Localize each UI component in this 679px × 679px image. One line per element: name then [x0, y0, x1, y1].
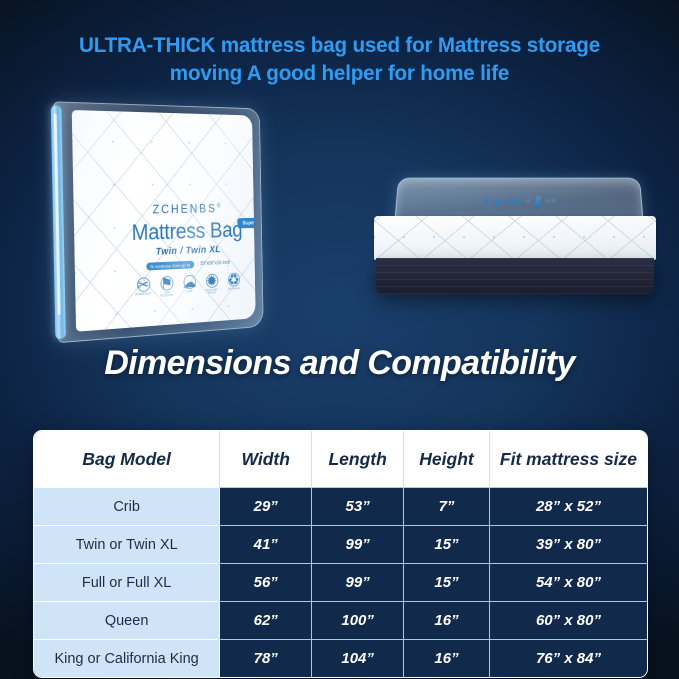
column-header-height: Height: [404, 431, 490, 488]
spec-table: Bag Model Width Length Height Fit mattre…: [34, 431, 647, 677]
cell-length: 53”: [312, 488, 404, 526]
headline-line-1-rest: mattress bag used for Mattress storage: [215, 33, 600, 57]
table-row: Full or Full XL 56” 99” 15” 54” x 80”: [34, 564, 647, 602]
bag-print-mark: 说明: [545, 200, 556, 205]
headline: ULTRA-THICK mattress bag used for Mattre…: [0, 32, 679, 87]
column-header-width: Width: [220, 431, 312, 488]
table-header-row: Bag Model Width Length Height Fit mattre…: [34, 431, 647, 488]
column-header-bag-model: Bag Model: [34, 431, 220, 488]
registered-mark: ®: [217, 204, 223, 210]
table-body: Crib 29” 53” 7” 28” x 52” Twin or Twin X…: [34, 488, 647, 678]
cell-length: 104”: [312, 640, 404, 678]
table-row: King or California King 78” 104” 16” 76”…: [34, 640, 647, 678]
column-header-length: Length: [312, 431, 404, 488]
feature-caption: WATERPROOF: [134, 293, 153, 297]
cell-height: 7”: [404, 488, 490, 526]
cell-bag-model: Twin or Twin XL: [34, 526, 220, 564]
feature-caption: MOISTURE PROOF: [203, 289, 221, 296]
mattress-front-face: ZCHENBS® Mattress Bag Twin / Twin XL fit…: [72, 110, 256, 332]
table-row: Crib 29” 53” 7” 28” x 52”: [34, 488, 647, 526]
section-title: Dimensions and Compatibility: [0, 344, 679, 383]
brand-text: ZCHENBS: [152, 202, 217, 216]
cell-length: 100”: [312, 602, 404, 640]
cell-width: 41”: [220, 526, 312, 564]
brand-name: ZCHENBS®: [105, 201, 256, 217]
cell-height: 15”: [404, 564, 490, 602]
mattress-base: [376, 258, 654, 294]
feature-item: ✹ MOISTURE PROOF: [203, 274, 221, 296]
table-row: Twin or Twin XL 41” 99” 15” 39” x 80”: [34, 526, 647, 564]
cell-bag-model: Crib: [34, 488, 220, 526]
table-header: Bag Model Width Length Height Fit mattre…: [34, 431, 647, 488]
mattress-top-surface: [374, 216, 656, 260]
cell-bag-model: King or California King: [34, 640, 220, 678]
cell-width: 62”: [220, 602, 312, 640]
cell-fit-size: 54” x 80”: [489, 564, 647, 602]
column-header-fit-mattress-size: Fit mattress size: [489, 431, 647, 488]
bagged-mattress-perspective: ZCHENBS® Mattress Bag Twin / Twin XL fit…: [51, 95, 272, 347]
table-row: Queen 62” 100” 16” 60” x 80”: [34, 602, 647, 640]
package-title: Mattress Bag: [105, 217, 255, 247]
super-strong-badge: Super Strong: [238, 217, 256, 228]
cell-width: 29”: [220, 488, 312, 526]
feature-item: ✂ WATERPROOF: [133, 277, 153, 300]
headline-line-1: ULTRA-THICK mattress bag used for Mattre…: [46, 32, 633, 60]
product-image-bagged-mattress: ZCHENBS® Mattress Bag Twin / Twin XL fit…: [52, 96, 304, 346]
cell-length: 99”: [312, 526, 404, 564]
product-image-mattress-with-bag: 用 床墊 袋 说明: [368, 172, 656, 304]
feature-caption: REUSABLE: [225, 288, 243, 292]
bag-print-chip: [494, 200, 502, 205]
cell-height: 15”: [404, 526, 490, 564]
dimensions-table: Bag Model Width Length Height Fit mattre…: [33, 430, 648, 678]
cell-height: 16”: [404, 602, 490, 640]
product-infographic: ULTRA-THICK mattress bag used for Mattre…: [0, 0, 679, 679]
bag-print-bottle-icon: [535, 196, 542, 208]
bag-print-mark: 床墊: [506, 199, 521, 206]
cell-fit-size: 76” x 84”: [489, 640, 647, 678]
spec-value: : 39"x80"x16 inch: [198, 260, 231, 267]
cell-height: 16”: [404, 640, 490, 678]
mattress-quilting-dots: [374, 216, 656, 260]
spec-pill-label: fit mattress Size up to: [146, 261, 194, 271]
bag-printed-graphics: 用 床墊 袋 说明: [481, 196, 557, 208]
cell-bag-model: Queen: [34, 602, 220, 640]
cell-fit-size: 60” x 80”: [489, 602, 647, 640]
feature-item: ♻ REUSABLE: [225, 273, 243, 295]
reusable-icon: ♻: [227, 273, 239, 287]
cell-fit-size: 28” x 52”: [489, 488, 647, 526]
feature-item: ⚑ TEAR RESISTANT: [157, 276, 176, 298]
headline-line-2: moving A good helper for home life: [46, 60, 633, 88]
moisture-proof-icon: ✹: [205, 274, 218, 289]
bag-print-mark: 用: [482, 199, 490, 206]
package-label: ZCHENBS® Mattress Bag Twin / Twin XL fit…: [105, 201, 256, 301]
mattress-base-layers: [376, 258, 654, 294]
cell-length: 99”: [312, 564, 404, 602]
headline-emphasis: ULTRA-THICK: [79, 33, 215, 57]
waterproof-icon: ✂: [136, 277, 149, 292]
bag-print-mark: 袋: [525, 200, 531, 205]
cell-width: 56”: [220, 564, 312, 602]
cell-width: 78”: [220, 640, 312, 678]
tear-resistant-icon: ⚑: [160, 276, 173, 291]
dust-proof-icon: ☁: [183, 275, 196, 290]
feature-item: ☁ DUST: [180, 275, 199, 297]
cell-bag-model: Full or Full XL: [34, 564, 220, 602]
cell-fit-size: 39” x 80”: [489, 526, 647, 564]
